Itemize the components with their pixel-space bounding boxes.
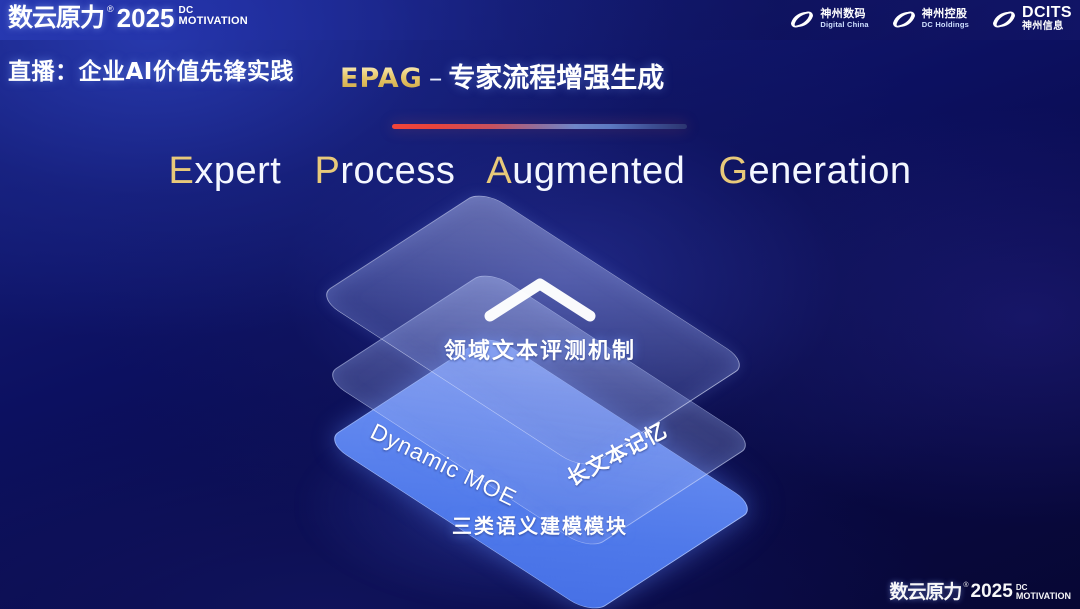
watermark-registered-mark: ® <box>963 581 968 590</box>
watermark-motivation-label: MOTIVATION <box>1016 592 1071 600</box>
layer-label-bottom: 三类语义建模模块 <box>0 510 1080 539</box>
watermark-name-cn: 数云原力 <box>889 581 961 603</box>
layer-label-top: 领域文本评测机制 <box>0 333 1080 365</box>
watermark-year: 2025 <box>971 581 1013 603</box>
watermark-dc-motivation: DC MOTIVATION <box>1016 581 1071 600</box>
corner-watermark-logo: 数云原力 ® 2025 DC MOTIVATION <box>889 581 1071 603</box>
slide-canvas: 数云原力 ® 2025 DC MOTIVATION 直播：企业AI价值先锋实践 … <box>0 0 1080 609</box>
chevron-up-icon <box>482 276 598 324</box>
layered-architecture-diagram: 领域文本评测机制 Dynamic MOE 长文本记忆 三类语义建模模块 <box>0 0 1080 609</box>
